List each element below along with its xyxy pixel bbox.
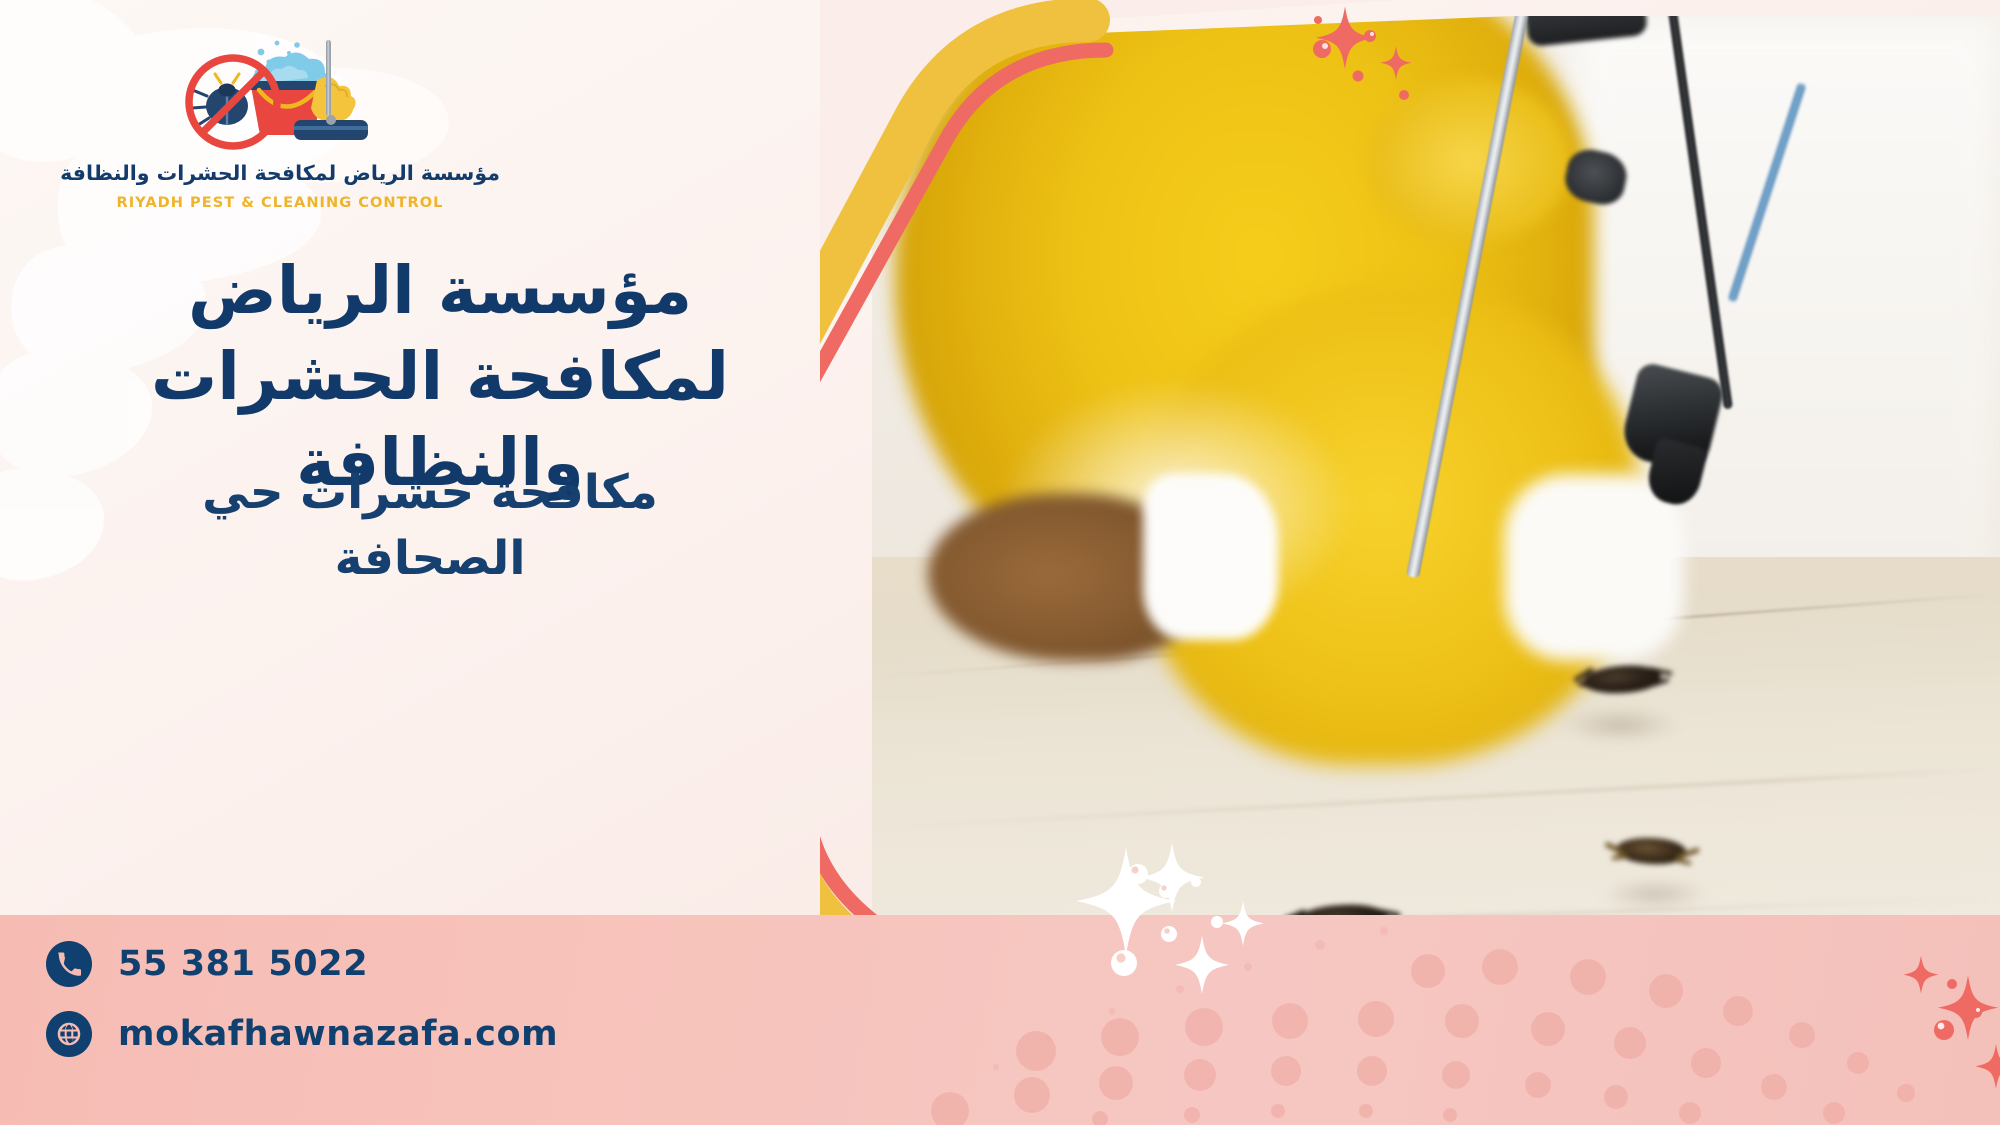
contact-bar: 55 381 5022 mokafhawnazafa.com bbox=[0, 915, 2000, 1125]
brand-logo: مؤسسة الرياض لمكافحة الحشرات والنظافة RI… bbox=[20, 34, 540, 211]
halftone-dot-pattern bbox=[800, 915, 2000, 1125]
phone-icon bbox=[46, 941, 92, 987]
website-url: mokafhawnazafa.com bbox=[118, 1014, 558, 1054]
promo-banner: مؤسسة الرياض لمكافحة الحشرات والنظافة RI… bbox=[0, 0, 2000, 1125]
brand-name-arabic: مؤسسة الرياض لمكافحة الحشرات والنظافة bbox=[60, 161, 500, 186]
left-content-column: مؤسسة الرياض لمكافحة الحشرات والنظافة RI… bbox=[0, 0, 1060, 915]
contact-website[interactable]: mokafhawnazafa.com bbox=[46, 1011, 558, 1057]
page-subtitle: مكافحة حشرات حي الصحافة bbox=[110, 460, 750, 592]
brand-name-english: RIYADH PEST & CLEANING CONTROL bbox=[117, 194, 444, 211]
globe-icon bbox=[46, 1011, 92, 1057]
pest-cleaning-logo-icon bbox=[165, 34, 395, 152]
phone-number: 55 381 5022 bbox=[118, 944, 368, 984]
contact-list: 55 381 5022 mokafhawnazafa.com bbox=[46, 941, 558, 1057]
contact-phone[interactable]: 55 381 5022 bbox=[46, 941, 558, 987]
